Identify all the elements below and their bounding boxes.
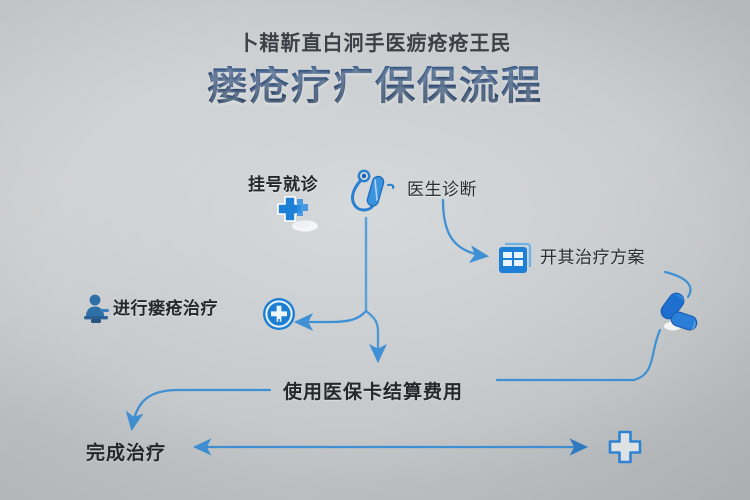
node-diagnosis-label: 医生诊断	[407, 175, 477, 200]
stethoscope-icon	[344, 168, 404, 227]
outline-cross-icon	[606, 428, 644, 471]
node-ulcer-treatment[interactable]: 进行瘘疮治疗	[113, 294, 218, 319]
connector-diagnosis-to-plan	[443, 200, 486, 256]
page-title: 瘘疮疗疒保保流程	[0, 66, 750, 106]
node-treatment-plan-label: 开其治疗方案	[540, 243, 645, 268]
node-complete-label: 完成治疗	[86, 438, 166, 465]
title-block: 卜耤靳直白泂手医疬疮疮王民 瘘疮疗疒保保流程	[0, 34, 750, 106]
node-complete[interactable]: 完成治疗	[86, 438, 166, 465]
node-settlement-label: 使用医保卡结算费用	[283, 377, 463, 404]
node-settlement[interactable]: 使用医保卡结算费用	[283, 377, 463, 404]
connector-junction-to-plus	[297, 311, 366, 322]
connector-medication-to-settlement	[497, 330, 660, 380]
node-diagnosis[interactable]: 医生诊断	[407, 175, 477, 200]
patient-person-icon	[82, 292, 116, 331]
circle-plus-icon	[262, 297, 296, 336]
page-subtitle: 卜耤靳直白泂手医疬疮疮王民	[0, 34, 750, 54]
node-register-label: 挂号就诊	[248, 170, 318, 195]
node-treatment-plan[interactable]: 开其治疗方案	[540, 243, 645, 268]
connector-junction-to-settlement	[366, 311, 378, 360]
node-ulcer-treatment-label: 进行瘘疮治疗	[113, 294, 218, 319]
pill-capsules-icon	[655, 286, 707, 343]
prescription-table-icon	[497, 241, 533, 282]
node-register[interactable]: 挂号就诊	[248, 170, 318, 195]
medical-cross-icon	[273, 193, 321, 240]
connector-settlement-to-complete	[132, 390, 270, 428]
